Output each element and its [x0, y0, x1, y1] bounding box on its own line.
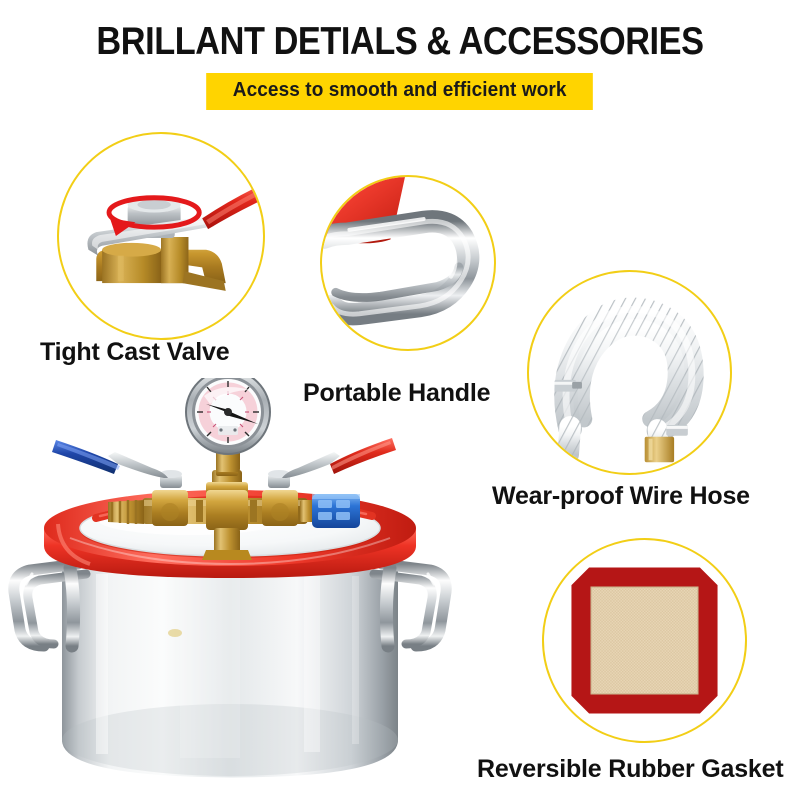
subtitle-banner-wrap: Access to smooth and efficient work — [0, 73, 800, 110]
chrome-loop-handle-icon — [322, 177, 494, 349]
page-title: BRILLANT DETIALS & ACCESSORIES — [48, 20, 752, 64]
coiled-wire-hose-icon — [529, 272, 730, 473]
callout-circle-handle — [320, 175, 496, 351]
subtitle-banner: Access to smooth and efficient work — [206, 73, 593, 110]
callout-circle-gasket — [542, 538, 747, 743]
pressure-gauge — [186, 378, 270, 472]
callout-circle-valve — [57, 132, 265, 340]
hose-barb — [108, 500, 144, 524]
callout-label-hose: Wear-proof Wire Hose — [492, 482, 750, 511]
brass-ball-valve-icon — [59, 134, 263, 338]
infographic-canvas: BRILLANT DETIALS & ACCESSORIES Access to… — [0, 0, 800, 800]
callout-circle-hose — [527, 270, 732, 475]
callout-label-valve: Tight Cast Valve — [40, 338, 229, 367]
vacuum-chamber-illustration — [0, 378, 480, 798]
side-handle-right — [374, 564, 446, 646]
product-vacuum-chamber — [0, 378, 480, 798]
gasket-woven-center — [591, 587, 698, 694]
side-handle-left — [14, 564, 86, 646]
callout-label-gasket: Reversible Rubber Gasket — [477, 755, 783, 784]
square-silicone-mat-icon — [544, 540, 745, 741]
